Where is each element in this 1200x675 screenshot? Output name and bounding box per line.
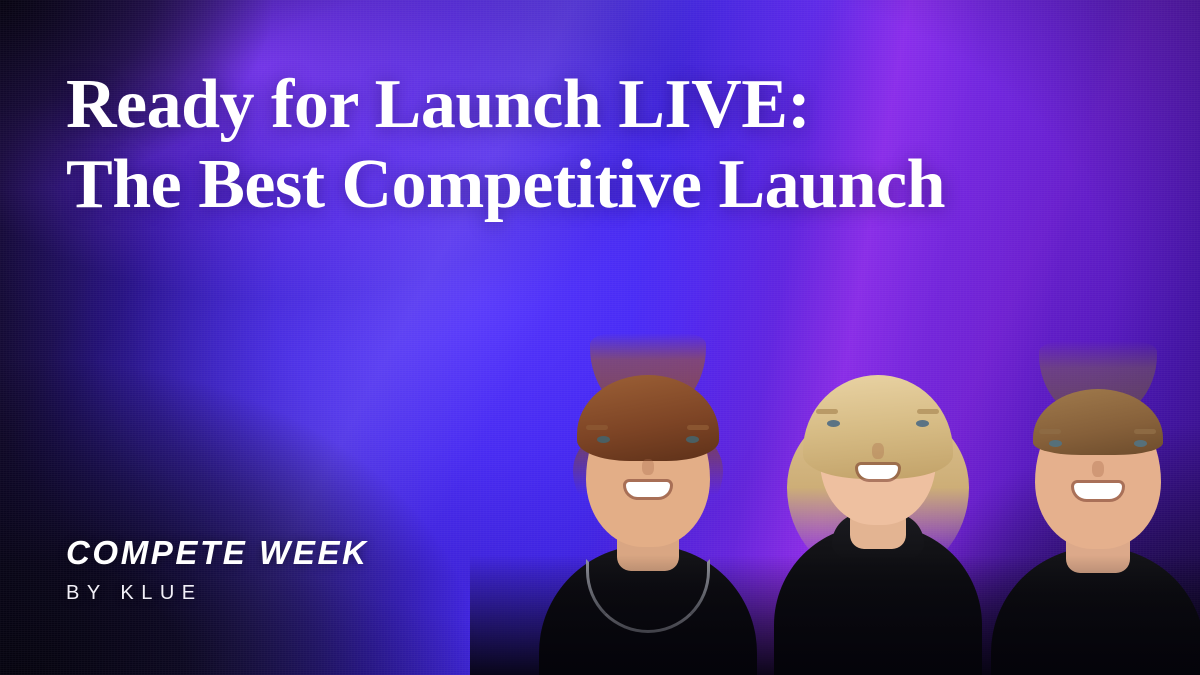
smile-left-speaker	[626, 482, 670, 497]
eyebrow-left	[1039, 429, 1061, 434]
eyebrow-right	[917, 409, 939, 414]
smile-right-speaker	[1074, 483, 1122, 499]
eye-right	[686, 436, 699, 443]
headline: Ready for Launch LIVE: The Best Competit…	[66, 70, 1141, 220]
hair-left-speaker	[577, 375, 719, 461]
eye-left	[597, 436, 610, 443]
headline-line-1: Ready for Launch LIVE:	[66, 70, 1141, 140]
speaker-photo-center	[750, 345, 1005, 675]
nose-left-speaker	[642, 459, 654, 475]
brand-byline: BY KLUE	[66, 583, 369, 603]
eye-right	[916, 420, 929, 427]
eye-left	[827, 420, 840, 427]
nose-center-speaker	[872, 443, 884, 459]
headline-line-2: The Best Competitive Launch	[66, 150, 1141, 220]
hair-center-speaker	[803, 375, 953, 479]
eyebrow-left	[586, 425, 608, 430]
speaker-photo-row	[520, 345, 1200, 675]
eyebrow-left	[816, 409, 838, 414]
promo-banner: Ready for Launch LIVE: The Best Competit…	[0, 0, 1200, 675]
speaker-photo-right	[975, 355, 1200, 675]
eye-right	[1134, 440, 1147, 447]
eye-left	[1049, 440, 1062, 447]
brand-name: COMPETE WEEK	[66, 536, 369, 569]
brand-lockup: COMPETE WEEK BY KLUE	[66, 536, 369, 603]
eyebrow-right	[1134, 429, 1156, 434]
eyebrow-right	[687, 425, 709, 430]
nose-right-speaker	[1092, 461, 1104, 477]
speaker-photo-left	[520, 355, 775, 675]
smile-center-speaker	[858, 465, 898, 479]
